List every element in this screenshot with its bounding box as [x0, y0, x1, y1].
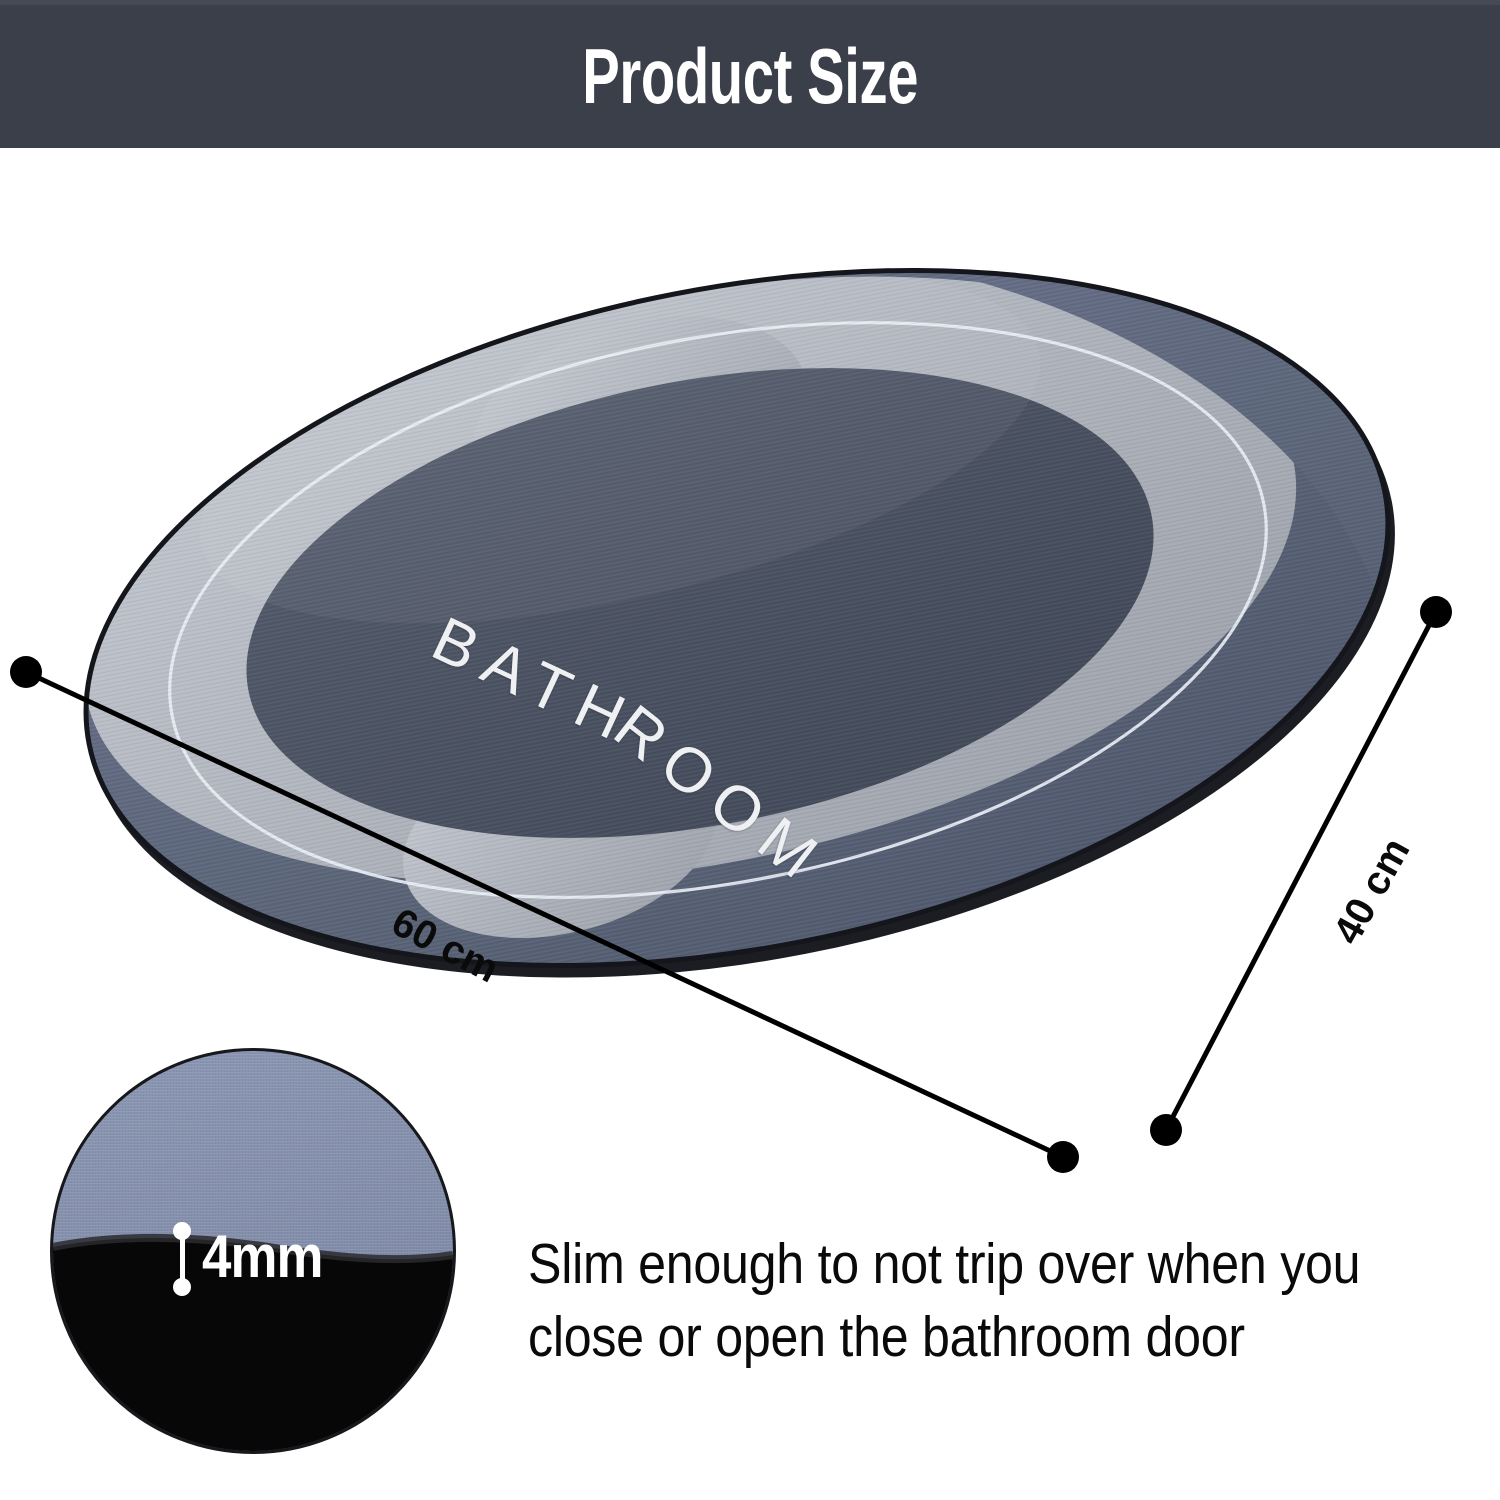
caption-line-1: Slim enough to not trip over when you [528, 1228, 1364, 1301]
thickness-value-label: 4mm [202, 1227, 323, 1287]
dimension-endpoint-depth-bottom [1150, 1114, 1182, 1146]
feature-caption: Slim enough to not trip over when you cl… [528, 1228, 1478, 1374]
mat-graphic [0, 148, 1500, 1048]
product-illustration: BATH ROOM [0, 148, 1500, 1048]
header-bar: Product Size [0, 0, 1500, 148]
page-title: Product Size [582, 37, 918, 115]
dimension-endpoint-width-right [1047, 1141, 1079, 1173]
thickness-measure-group: 4mm [168, 1222, 339, 1296]
caption-line-2: close or open the bathroom door [528, 1301, 1364, 1374]
thickness-measure-icon [168, 1222, 196, 1296]
